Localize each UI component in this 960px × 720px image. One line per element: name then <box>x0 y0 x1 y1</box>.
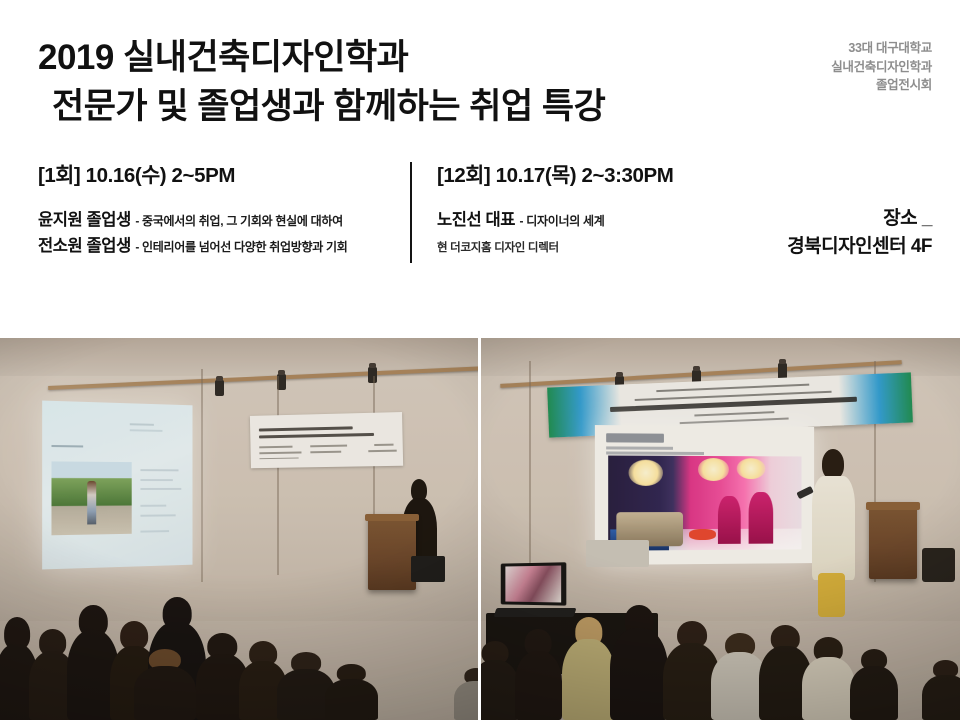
slide-text-line <box>140 488 181 490</box>
render-lamp <box>737 458 766 479</box>
audience-person <box>325 664 378 720</box>
presenter-skirt <box>818 573 845 617</box>
laptop-screen <box>501 563 567 607</box>
presenter-coat <box>812 476 855 580</box>
banner-sub-line <box>657 384 810 393</box>
session-divider <box>410 162 412 263</box>
session-1: [1회] 10.16(수) 2~5PM 윤지원 졸업생 - 중국에서의 취업, … <box>38 158 348 260</box>
poster-text-area: 2019 실내건축디자인학과 전문가 및 졸업생과 함께하는 취업 특강 33대… <box>0 0 960 338</box>
banner-sub-line <box>368 450 396 452</box>
banner-sub-line <box>259 452 301 454</box>
speaker-name: 전소원 졸업생 <box>38 237 131 255</box>
audience-person <box>110 621 158 720</box>
poster-title: 2019 실내건축디자인학과 전문가 및 졸업생과 함께하는 취업 특강 <box>38 33 605 131</box>
slide-text-line <box>140 514 175 516</box>
slide-text-line <box>140 504 166 506</box>
spotlight-icon <box>778 363 787 379</box>
render-lamp <box>628 460 663 486</box>
slide-image <box>52 461 132 535</box>
presenter-head <box>822 449 844 479</box>
venue-name: 경북디자인센터 4F <box>787 233 932 261</box>
render-door <box>748 492 773 544</box>
audience-person <box>802 637 855 720</box>
audience-person <box>0 617 38 720</box>
banner-sub-line <box>694 411 774 417</box>
banner-sub-line <box>259 446 292 448</box>
session-2-talk-1: 노진선 대표 - 디자이너의 세계 <box>437 208 673 234</box>
wall-banner-left <box>249 412 402 469</box>
audience-person <box>277 652 334 720</box>
laptop <box>495 563 586 620</box>
wall-seam <box>529 361 531 575</box>
audience-person <box>29 629 77 720</box>
session-1-heading: [1회] 10.16(수) 2~5PM <box>38 158 348 188</box>
session-1-talk-1: 윤지원 졸업생 - 중국에서의 취업, 그 기회와 현실에 대하여 <box>38 208 348 234</box>
speaker-name: 윤지원 졸업생 <box>38 211 131 229</box>
speaker-name: 노진선 대표 <box>437 211 515 229</box>
session-2-heading: [12회] 10.17(목) 2~3:30PM <box>437 158 673 188</box>
talk-topic: - 인테리어를 넘어선 다양한 취업방향과 기회 <box>135 240 347 254</box>
venue-label: 장소 _ <box>787 205 932 233</box>
poster-root: 2019 실내건축디자인학과 전문가 및 졸업생과 함께하는 취업 특강 33대… <box>0 0 960 720</box>
slide-text-line <box>52 445 83 448</box>
projection-screen-left <box>42 400 192 569</box>
laptop-screen-content <box>506 566 561 603</box>
audience-person <box>663 621 720 720</box>
organization-line-1: 33대 대구대학교 <box>831 39 932 58</box>
projector <box>586 540 648 567</box>
title-line-2: 전문가 및 졸업생과 함께하는 취업 특강 <box>38 82 605 131</box>
banner-sub-line <box>259 458 298 460</box>
wall-seam <box>277 376 279 575</box>
session-1-talk-2: 전소원 졸업생 - 인테리어를 넘어선 다양한 취업방향과 기회 <box>38 234 348 260</box>
podium <box>869 502 917 578</box>
slide-text-line <box>606 446 673 449</box>
talk-topic: - 중국에서의 취업, 그 기회와 현실에 대하여 <box>135 214 343 228</box>
photo-strip <box>0 338 960 720</box>
venue-block: 장소 _ 경북디자인센터 4F <box>787 205 932 261</box>
banner-sub-line <box>310 452 340 454</box>
audience-person <box>196 633 249 720</box>
banner-title-line <box>259 427 353 432</box>
banner-sub-line <box>310 445 347 447</box>
render-pouf <box>689 529 716 540</box>
slide-text-line <box>140 530 169 533</box>
banner-sub-line <box>680 417 789 424</box>
slide-text-line <box>130 429 162 432</box>
lecture-room-scene-left <box>0 338 478 720</box>
organization-line-2: 실내건축디자인학과 <box>831 58 932 77</box>
equipment-bag <box>922 548 956 582</box>
presenter <box>812 449 855 617</box>
lecture-room-scene-right <box>481 338 960 720</box>
banner-title-line <box>259 434 374 440</box>
podium <box>368 514 416 590</box>
organization-line-3: 졸업전시회 <box>831 76 932 95</box>
slide-text-line <box>140 469 178 471</box>
slide-text-line <box>606 451 704 455</box>
audience-person <box>711 633 768 720</box>
audience-person <box>134 649 196 720</box>
session-2-talk-1-affiliation: 현 더코지홈 디자인 디렉터 <box>437 234 673 261</box>
laptop-base <box>494 608 577 617</box>
equipment-case <box>411 556 444 583</box>
audience-person <box>922 660 960 720</box>
audience-person <box>759 625 812 720</box>
render-door <box>718 495 741 544</box>
slide-render-image <box>608 456 801 551</box>
photo-left <box>0 338 478 720</box>
audience-person <box>67 605 120 720</box>
session-2: [12회] 10.17(목) 2~3:30PM 노진선 대표 - 디자이너의 세… <box>437 158 673 261</box>
audience-person <box>454 668 478 720</box>
slide-text-line <box>130 423 154 426</box>
spotlight-icon <box>215 380 224 396</box>
title-line-1: 2019 실내건축디자인학과 <box>38 33 605 82</box>
banner-sub-line <box>374 444 393 446</box>
organization-block: 33대 대구대학교 실내건축디자인학과 졸업전시회 <box>831 39 932 95</box>
talk-topic: - 디자이너의 세계 <box>520 214 605 228</box>
slide-text-line <box>140 479 172 481</box>
speaker-affiliation: 현 더코지홈 디자인 디렉터 <box>437 242 559 254</box>
render-lamp <box>698 458 729 481</box>
equipment-table <box>486 613 658 674</box>
audience-person <box>239 641 287 720</box>
photo-right <box>481 338 960 720</box>
audience-person <box>850 649 898 720</box>
slide-header <box>606 433 664 442</box>
wall-seam <box>201 369 203 583</box>
